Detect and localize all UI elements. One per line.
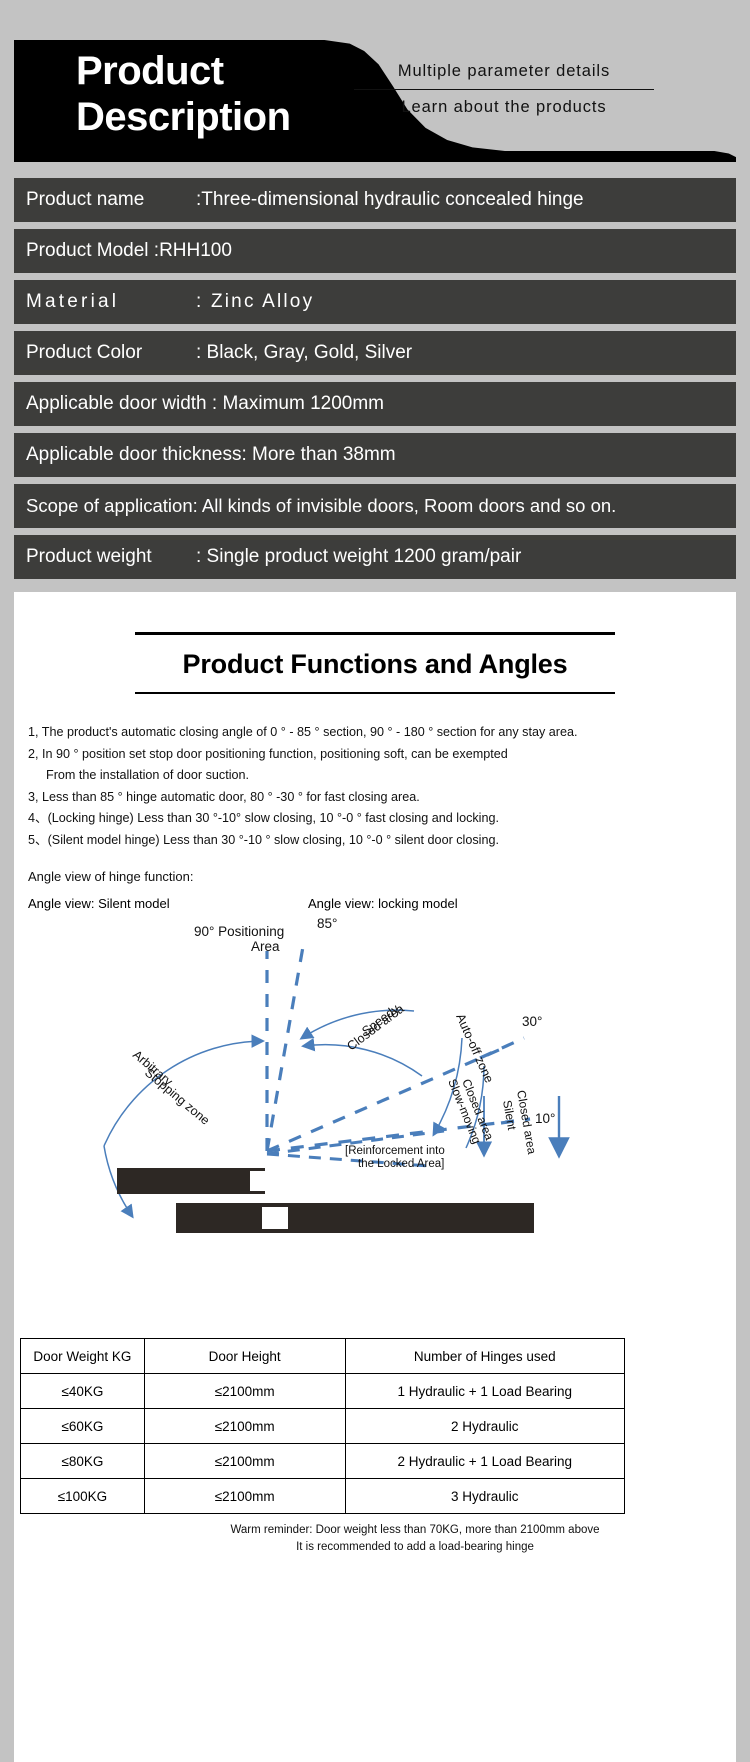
door-bar-lower (176, 1203, 534, 1233)
angle-view-labels: Angle view: Silent model Angle view: loc… (14, 896, 736, 916)
reminder-line-1: Warm reminder: Door weight less than 70K… (180, 1522, 650, 1539)
banner-subtitles: Multiple parameter details Learn about t… (354, 62, 654, 117)
door-notch-lower (262, 1207, 288, 1229)
spec-row: Product weight : Single product weight 1… (14, 535, 736, 579)
cell-hinges: 3 Hydraulic (345, 1479, 625, 1514)
table-header-row: Door Weight KG Door Height Number of Hin… (21, 1339, 625, 1374)
column-header: Number of Hinges used (345, 1339, 625, 1374)
spec-key: Material (26, 291, 196, 313)
list-item: 4、(Locking hinge) Less than 30 °-10° slo… (28, 808, 736, 830)
spec-key: Applicable door width : Maximum 1200mm (26, 393, 384, 415)
spec-row: Applicable door width : Maximum 1200mm (14, 382, 736, 426)
table-row: ≤100KG ≤2100mm 3 Hydraulic (21, 1479, 625, 1514)
reminder-line-2: It is recommended to add a load-bearing … (180, 1539, 650, 1556)
spec-key: Product weight (26, 546, 196, 568)
label-10: 10° (535, 1111, 555, 1126)
cell-hinges: 1 Hydraulic + 1 Load Bearing (345, 1374, 625, 1409)
header-banner: Product Description Multiple parameter d… (14, 40, 736, 162)
label-reinforcement-2: the Locked Area] (358, 1158, 444, 1170)
functions-title: Product Functions and Angles (14, 635, 736, 692)
angle-view-right-label: Angle view: locking model (308, 896, 458, 911)
spec-key: Product name (26, 189, 196, 211)
cell-weight: ≤100KG (21, 1479, 145, 1514)
spec-key: Product Model :RHH100 (26, 240, 232, 262)
label-30: 30° (522, 1014, 542, 1029)
table-row: ≤60KG ≤2100mm 2 Hydraulic (21, 1409, 625, 1444)
label-autooff: Auto-off zone (453, 1012, 496, 1085)
label-90-positioning: 90° Positioning (194, 924, 284, 939)
arc-speedy-lower (304, 1045, 422, 1076)
spec-value: : Single product weight 1200 gram/pair (196, 546, 521, 568)
door-weight-table: Door Weight KG Door Height Number of Hin… (20, 1338, 625, 1514)
banner-subtitle-1: Multiple parameter details (354, 62, 654, 90)
functions-card: Product Functions and Angles 1, The prod… (14, 592, 736, 1762)
list-item: From the installation of door suction. (28, 765, 736, 787)
label-reinforcement-1: [Reinforcement into (345, 1145, 445, 1157)
column-header: Door Height (144, 1339, 345, 1374)
table-row: ≤40KG ≤2100mm 1 Hydraulic + 1 Load Beari… (21, 1374, 625, 1409)
spec-key: Product Color (26, 342, 196, 364)
cell-weight: ≤40KG (21, 1374, 145, 1409)
label-85: 85° (317, 916, 337, 931)
cell-hinges: 2 Hydraulic (345, 1409, 625, 1444)
cell-weight: ≤80KG (21, 1444, 145, 1479)
spec-list: Product name :Three-dimensional hydrauli… (14, 178, 736, 586)
divider-bottom (135, 692, 615, 695)
cell-height: ≤2100mm (144, 1374, 345, 1409)
ray-85 (267, 941, 304, 1151)
cell-weight: ≤60KG (21, 1409, 145, 1444)
spec-row: Product Model :RHH100 (14, 229, 736, 273)
list-item: 5、(Silent model hinge) Less than 30 °-10… (28, 830, 736, 852)
list-item: 2, In 90 ° position set stop door positi… (28, 744, 736, 766)
spec-key: Applicable door thickness: More than 38m… (26, 444, 396, 466)
cell-height: ≤2100mm (144, 1409, 345, 1444)
hinge-angle-diagram: 90° Positioning Area 85° 30° 10° Arbitra… (14, 916, 736, 1246)
cell-height: ≤2100mm (144, 1444, 345, 1479)
banner-subtitle-2: Learn about the products (354, 90, 654, 117)
ray-30-tail (480, 1038, 524, 1058)
list-item: 1, The product's automatic closing angle… (28, 722, 736, 744)
cell-hinges: 2 Hydraulic + 1 Load Bearing (345, 1444, 625, 1479)
warm-reminder: Warm reminder: Door weight less than 70K… (180, 1522, 650, 1556)
spec-value: :Three-dimensional hydraulic concealed h… (196, 189, 584, 211)
door-notch-upper (250, 1171, 274, 1191)
column-header: Door Weight KG (21, 1339, 145, 1374)
spec-value: : Zinc Alloy (196, 291, 314, 313)
spec-value: : Black, Gray, Gold, Silver (196, 342, 412, 364)
spec-row: Product Color : Black, Gray, Gold, Silve… (14, 331, 736, 375)
spec-key: Scope of application: All kinds of invis… (26, 495, 616, 517)
functions-title-block: Product Functions and Angles (14, 592, 736, 694)
list-item: 3, Less than 85 ° hinge automatic door, … (28, 787, 736, 809)
label-speedy-2: Closed area (344, 1002, 406, 1054)
functions-list: 1, The product's automatic closing angle… (28, 722, 736, 851)
label-arbitrary-2: Stopping zone (142, 1066, 212, 1128)
angle-view-left-label: Angle view: Silent model (28, 896, 170, 911)
angle-view-heading: Angle view of hinge function: (28, 869, 736, 884)
spec-row: Product name :Three-dimensional hydrauli… (14, 178, 736, 222)
spec-row: Scope of application: All kinds of invis… (14, 484, 736, 528)
cell-height: ≤2100mm (144, 1479, 345, 1514)
spec-row: Applicable door thickness: More than 38m… (14, 433, 736, 477)
spec-row: Material : Zinc Alloy (14, 280, 736, 324)
label-90-area: Area (251, 939, 280, 954)
product-description-page: Product Description Multiple parameter d… (0, 0, 750, 1762)
door-bar-upper (117, 1168, 265, 1194)
table-row: ≤80KG ≤2100mm 2 Hydraulic + 1 Load Beari… (21, 1444, 625, 1479)
page-title: Product Description (76, 48, 291, 140)
